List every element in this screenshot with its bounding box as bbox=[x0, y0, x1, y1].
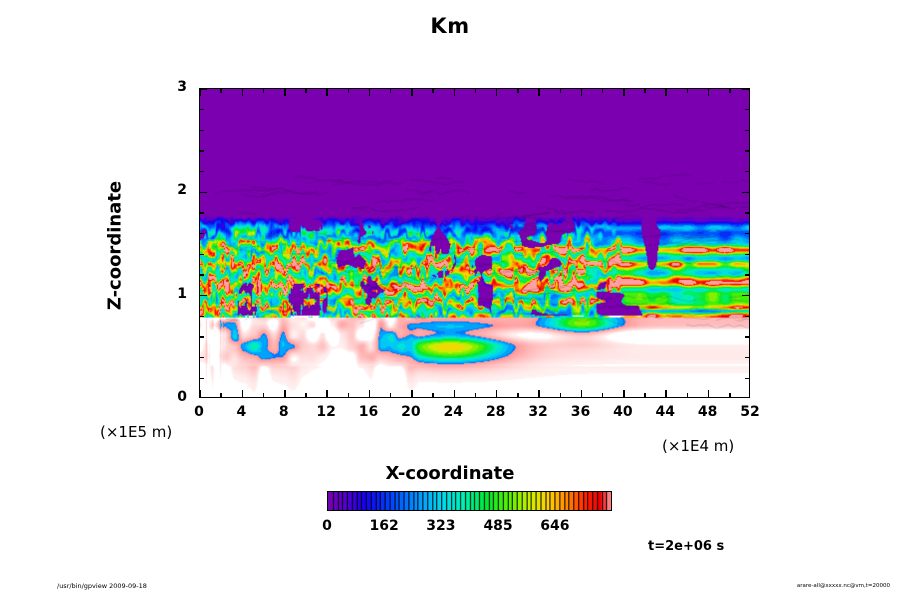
y-axis-tick bbox=[745, 130, 749, 132]
x-axis-tick bbox=[284, 89, 286, 96]
x-axis-tick bbox=[454, 89, 456, 96]
x-axis-tick bbox=[390, 89, 392, 93]
x-axis-tick bbox=[454, 390, 456, 397]
x-axis-tick-label: 20 bbox=[391, 404, 431, 420]
x-axis-tick-label: 52 bbox=[730, 404, 770, 420]
x-axis-tick bbox=[326, 89, 328, 96]
y-axis-tick bbox=[745, 109, 749, 111]
x-axis-tick bbox=[432, 89, 434, 93]
page-title: Km bbox=[0, 14, 900, 38]
x-axis-tick bbox=[496, 390, 498, 397]
x-axis-tick bbox=[665, 390, 667, 397]
x-axis-tick bbox=[560, 89, 562, 93]
x-axis-tick-label: 48 bbox=[688, 404, 728, 420]
x-axis-tick bbox=[538, 89, 540, 96]
x-axis-tick bbox=[708, 390, 710, 397]
contour-field bbox=[200, 89, 749, 397]
x-axis-tick bbox=[432, 393, 434, 397]
colorbar-tick-label: 646 bbox=[530, 518, 580, 534]
y-axis-tick-label: 1 bbox=[155, 286, 187, 302]
x-axis-tick bbox=[263, 89, 265, 93]
colorbar-tick-label: 162 bbox=[359, 518, 409, 534]
x-axis-tick bbox=[220, 393, 222, 397]
x-axis-tick bbox=[729, 393, 731, 397]
footer-command: /usr/bin/gpview 2009-09-18 bbox=[57, 582, 147, 590]
x-axis-tick-label: 16 bbox=[349, 404, 389, 420]
y-axis-tick bbox=[745, 274, 749, 276]
y-axis-tick bbox=[200, 295, 207, 297]
y-axis-tick bbox=[745, 212, 749, 214]
x-axis-title: X-coordinate bbox=[0, 463, 900, 484]
y-axis-tick bbox=[200, 336, 204, 338]
x-axis-tick-label: 12 bbox=[306, 404, 346, 420]
x-axis-tick bbox=[411, 89, 413, 96]
y-axis-tick bbox=[742, 88, 749, 90]
x-axis-tick-label: 28 bbox=[476, 404, 516, 420]
x-axis-tick bbox=[348, 393, 350, 397]
x-axis-tick bbox=[242, 89, 244, 96]
y-axis-tick-label: 3 bbox=[155, 79, 187, 95]
y-axis-tick bbox=[742, 295, 749, 297]
y-axis-tick bbox=[200, 233, 204, 235]
colorbar-tick-label: 0 bbox=[302, 518, 352, 534]
x-axis-tick-label: 40 bbox=[603, 404, 643, 420]
y-axis-tick-label: 2 bbox=[155, 182, 187, 198]
colorbar-gradient bbox=[327, 491, 612, 511]
x-axis-tick bbox=[263, 393, 265, 397]
colorbar-tick-label: 485 bbox=[473, 518, 523, 534]
x-axis-tick bbox=[369, 89, 371, 96]
x-axis-tick-label: 32 bbox=[518, 404, 558, 420]
footer-source: arare-all@xxxxx.nc@vm,t=20000 bbox=[797, 583, 890, 589]
x-axis-tick bbox=[644, 89, 646, 93]
x-axis-tick bbox=[665, 89, 667, 96]
y-axis-tick bbox=[745, 150, 749, 152]
x-axis-tick bbox=[475, 393, 477, 397]
y-axis-tick bbox=[200, 171, 204, 173]
y-axis-tick bbox=[745, 171, 749, 173]
y-axis-tick bbox=[200, 130, 204, 132]
x-axis-tick bbox=[326, 390, 328, 397]
y-axis-tick bbox=[745, 336, 749, 338]
x-axis-tick bbox=[390, 393, 392, 397]
y-axis-tick bbox=[745, 233, 749, 235]
x-axis-tick bbox=[729, 89, 731, 93]
x-axis-tick bbox=[623, 89, 625, 96]
x-axis-tick-label: 36 bbox=[560, 404, 600, 420]
x-axis-tick bbox=[602, 89, 604, 93]
x-axis-tick bbox=[496, 89, 498, 96]
x-axis-tick bbox=[517, 393, 519, 397]
y-axis-unit: (×1E5 m) bbox=[100, 423, 172, 441]
y-axis-tick bbox=[200, 88, 207, 90]
y-axis-tick bbox=[745, 254, 749, 256]
contour-plot-frame[interactable] bbox=[199, 88, 750, 398]
y-axis-tick bbox=[200, 274, 204, 276]
x-axis-tick bbox=[369, 390, 371, 397]
x-axis-tick bbox=[475, 89, 477, 93]
y-axis-tick bbox=[200, 192, 207, 194]
x-axis-tick bbox=[284, 390, 286, 397]
y-axis-tick-label: 0 bbox=[155, 389, 187, 405]
y-axis-tick bbox=[200, 316, 204, 318]
x-axis-unit: (×1E4 m) bbox=[662, 437, 734, 455]
x-axis-tick bbox=[560, 393, 562, 397]
x-axis-tick bbox=[623, 390, 625, 397]
x-axis-tick bbox=[581, 89, 583, 96]
plot-canvas: Km 04812162024283236404448520123 Z-coord… bbox=[0, 0, 900, 600]
x-axis-tick bbox=[348, 89, 350, 93]
y-axis-tick bbox=[745, 316, 749, 318]
y-axis-title: Z-coordinate bbox=[105, 126, 126, 366]
y-axis-tick bbox=[742, 192, 749, 194]
y-axis-tick bbox=[200, 357, 204, 359]
x-axis-tick bbox=[687, 393, 689, 397]
x-axis-tick-label: 8 bbox=[264, 404, 304, 420]
colorbar-tick-label: 323 bbox=[416, 518, 466, 534]
x-axis-tick bbox=[220, 89, 222, 93]
x-axis-tick bbox=[199, 89, 201, 96]
time-stamp: t=2e+06 s bbox=[648, 539, 724, 554]
x-axis-tick bbox=[708, 89, 710, 96]
x-axis-tick bbox=[305, 393, 307, 397]
x-axis-tick bbox=[687, 89, 689, 93]
y-axis-tick bbox=[200, 378, 204, 380]
y-axis-tick bbox=[200, 150, 204, 152]
y-axis-tick bbox=[200, 254, 204, 256]
x-axis-tick bbox=[199, 390, 201, 397]
y-axis-tick bbox=[200, 212, 204, 214]
y-axis-tick bbox=[745, 378, 749, 380]
x-axis-tick bbox=[305, 89, 307, 93]
x-axis-tick bbox=[517, 89, 519, 93]
y-axis-tick bbox=[745, 357, 749, 359]
x-axis-tick-label: 44 bbox=[645, 404, 685, 420]
x-axis-tick bbox=[538, 390, 540, 397]
x-axis-tick-label: 0 bbox=[179, 404, 219, 420]
x-axis-tick-label: 24 bbox=[433, 404, 473, 420]
x-axis-tick bbox=[411, 390, 413, 397]
x-axis-tick bbox=[602, 393, 604, 397]
x-axis-tick bbox=[242, 390, 244, 397]
x-axis-tick-label: 4 bbox=[221, 404, 261, 420]
x-axis-tick bbox=[644, 393, 646, 397]
colorbar[interactable] bbox=[327, 491, 612, 511]
x-axis-tick bbox=[581, 390, 583, 397]
y-axis-tick bbox=[200, 109, 204, 111]
